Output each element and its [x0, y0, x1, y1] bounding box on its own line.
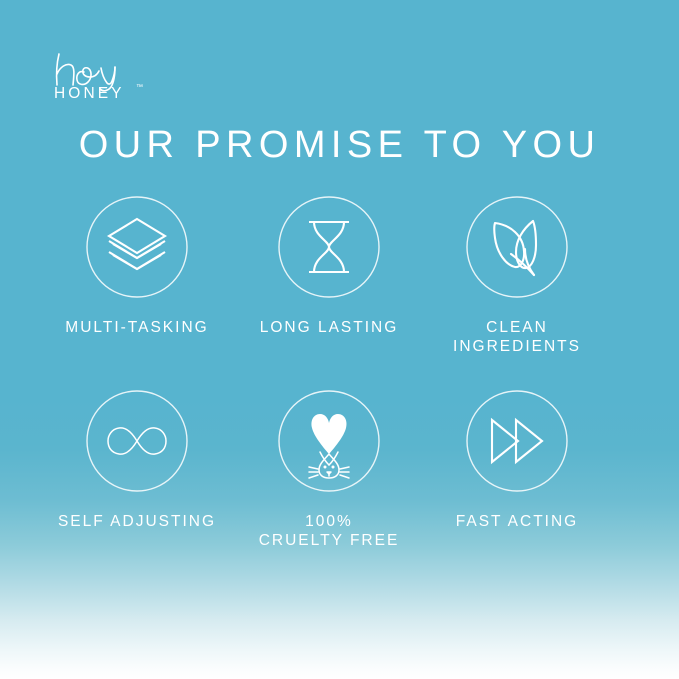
- brand-wordmark: HONEY: [54, 86, 125, 102]
- promise-label-line1: SELF ADJUSTING: [58, 513, 216, 530]
- promise-label: LONG LASTING: [234, 318, 424, 337]
- promise-item-fast-acting: FAST ACTING: [422, 390, 612, 580]
- promise-label: FAST ACTING: [422, 512, 612, 531]
- promise-label-line2: CRUELTY FREE: [234, 531, 424, 550]
- promise-label-line2: INGREDIENTS: [422, 337, 612, 356]
- promise-item-clean-ingredients: CLEAN INGREDIENTS: [422, 196, 612, 386]
- promise-item-self-adjusting: SELF ADJUSTING: [42, 390, 232, 580]
- promise-label: CLEAN INGREDIENTS: [422, 318, 612, 356]
- brand-logo: HONEY ™: [52, 48, 182, 110]
- promise-label: MULTI-TASKING: [42, 318, 232, 337]
- promise-item-long-lasting: LONG LASTING: [234, 196, 424, 386]
- promise-item-cruelty-free: 100% CRUELTY FREE: [234, 390, 424, 580]
- hourglass-icon: [278, 196, 380, 298]
- promise-label-line1: CLEAN: [486, 319, 548, 336]
- promise-label-line1: LONG LASTING: [260, 319, 399, 336]
- bunny-heart-icon: [278, 390, 380, 492]
- promise-item-multi-tasking: MULTI-TASKING: [42, 196, 232, 386]
- infinity-icon: [86, 390, 188, 492]
- promise-label-line1: 100%: [305, 513, 353, 530]
- promise-label: 100% CRUELTY FREE: [234, 512, 424, 550]
- fast-forward-icon: [466, 390, 568, 492]
- promise-row-top: MULTI-TASKING LONG LASTING: [0, 196, 679, 386]
- promise-row-bottom: SELF ADJUSTING: [0, 390, 679, 580]
- page-title: OUR PROMISE TO YOU: [0, 126, 679, 164]
- promise-poster: HONEY ™ OUR PROMISE TO YOU MULTI-T: [0, 0, 679, 679]
- promise-label-line1: MULTI-TASKING: [65, 319, 208, 336]
- promise-label-line1: FAST ACTING: [456, 513, 579, 530]
- layers-icon: [86, 196, 188, 298]
- trademark-symbol: ™: [136, 84, 143, 91]
- leaves-icon: [466, 196, 568, 298]
- promise-label: SELF ADJUSTING: [42, 512, 232, 531]
